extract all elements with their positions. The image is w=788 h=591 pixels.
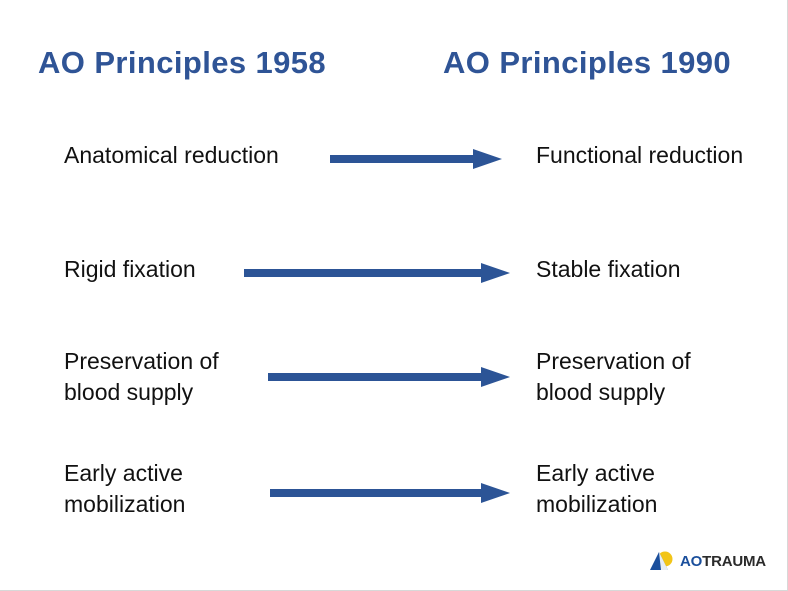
- arrow-right-icon-3: [268, 360, 510, 394]
- principle-label-right: Preservation of blood supply: [536, 346, 691, 408]
- logo-text-trauma: TRAUMA: [702, 554, 766, 569]
- logo-text-ao: AO: [680, 554, 702, 569]
- principle-label-left: Anatomical reduction: [64, 140, 279, 171]
- principle-label-left: Rigid fixation: [64, 254, 196, 285]
- principle-label-left: Preservation of blood supply: [64, 346, 219, 408]
- principle-row: Anatomical reduction Functional reductio…: [0, 126, 788, 206]
- aotrauma-logo-mark: [648, 550, 674, 572]
- slide-canvas: AO Principles 1958 AO Principles 1990 An…: [0, 0, 788, 591]
- principle-label-right: Stable fixation: [536, 254, 680, 285]
- principle-row: Preservation of blood supply Preservatio…: [0, 340, 788, 420]
- page-title-left: AO Principles 1958: [38, 45, 326, 81]
- page-title-right: AO Principles 1990: [443, 45, 731, 81]
- principle-row: Rigid fixation Stable fixation: [0, 240, 788, 320]
- arrow-right-icon-4: [270, 476, 510, 510]
- principle-label-right: Functional reduction: [536, 140, 743, 171]
- principle-label-right: Early active mobilization: [536, 458, 657, 520]
- aotrauma-logo: AO TRAUMA: [648, 550, 766, 572]
- arrow-right-icon-2: [244, 256, 510, 290]
- principle-row: Early active mobilization Early active m…: [0, 452, 788, 532]
- principle-label-left: Early active mobilization: [64, 458, 185, 520]
- arrow-right-icon-1: [330, 142, 502, 176]
